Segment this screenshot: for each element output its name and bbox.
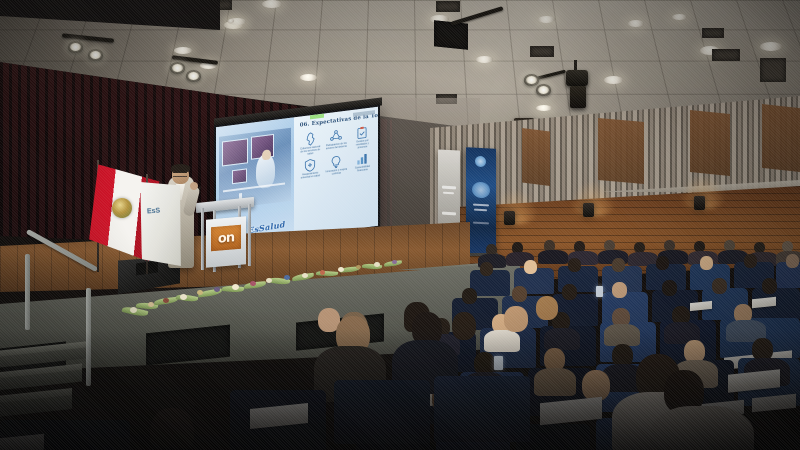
ceiling-vent — [436, 1, 460, 12]
slide-icon-grid: Cobertura nacional de los servicios de s… — [298, 123, 375, 181]
audience-head — [786, 254, 799, 268]
slide-icon-caption: Cobertura nacional de los servicios de s… — [299, 146, 322, 157]
slide-icon-cell: Innovacion y mejora continua — [324, 153, 349, 178]
wood-wall-panel — [690, 110, 730, 176]
audience-seat-foreground — [434, 376, 530, 442]
audience-head — [612, 282, 627, 298]
ceiling-downlight — [300, 74, 317, 81]
audience-head — [504, 306, 528, 332]
ceiling-downlight — [228, 19, 234, 23]
ceiling-downlight — [262, 0, 282, 8]
audience-head — [744, 254, 757, 268]
banner-text-block — [473, 222, 489, 225]
audience-shoulders-foreground — [650, 406, 754, 450]
ceiling-downlight — [536, 105, 552, 111]
audience-area — [0, 240, 800, 450]
banner-text-block — [443, 192, 454, 195]
spotlight-lens — [70, 43, 81, 51]
audience-head — [712, 278, 727, 294]
banner-logo — [472, 182, 490, 199]
slide-monitor — [222, 139, 248, 166]
audience-shoulders — [538, 250, 568, 264]
audience-shoulders — [604, 324, 640, 346]
ceiling-downlight — [628, 20, 644, 27]
slide-icon-cell: Sostenibilidad financiera — [350, 149, 375, 174]
spotlight-lens — [90, 51, 101, 59]
ceiling-downlight — [760, 42, 782, 51]
audience-head — [612, 258, 625, 272]
stage-spotlight — [88, 49, 103, 61]
banner-text-block — [442, 186, 456, 190]
stage-spotlight — [68, 41, 83, 53]
audience-head — [662, 280, 677, 296]
audience-phone — [596, 286, 603, 297]
audience-head — [762, 278, 777, 294]
audience-head — [480, 262, 493, 276]
audience-head — [536, 296, 558, 320]
spotlight-lens — [188, 72, 199, 80]
ceiling-vent — [712, 49, 740, 61]
slide-icon-cell: Aseguramiento universal en salud — [298, 156, 323, 181]
ceiling-vent — [760, 58, 786, 82]
slide-desk-edge — [223, 183, 285, 193]
peru-coat-of-arms — [112, 198, 132, 218]
ceiling-downlight — [476, 56, 493, 63]
slide-icon-caption: Sostenibilidad financiera — [351, 166, 374, 174]
slide-photo-image — [219, 127, 291, 210]
banner-text-block — [442, 212, 456, 216]
ceiling-downlight — [672, 14, 687, 20]
auditorium-photo: Aula EsSalud 06. Expectativas de la Tota… — [0, 0, 800, 450]
slide-icon-caption: Aseguramiento universal en salud — [299, 172, 322, 180]
audience-shoulders — [484, 330, 520, 352]
audience-head — [462, 288, 477, 304]
banner-text-block — [473, 204, 489, 207]
audience-phone — [494, 356, 503, 370]
slide-icon-cell: Cobertura nacional de los servicios de s… — [298, 130, 323, 157]
audience-head-foreground — [150, 408, 194, 450]
ceiling-downlight — [174, 47, 192, 54]
stage-spotlight — [536, 84, 551, 96]
wood-wall-panel — [522, 128, 550, 186]
ceiling-downlight — [604, 76, 623, 84]
audience-shoulders — [544, 328, 580, 350]
speaker-glasses — [173, 172, 187, 177]
wall-sconce — [583, 203, 594, 217]
flag-institutional-label: EsS — [147, 208, 161, 216]
ceiling-speaker — [570, 86, 586, 108]
sconce-glow — [492, 190, 538, 224]
banner-text-block — [474, 209, 487, 212]
slide-content-panel: 06. Expectativas de la Totalidad Cobertu… — [294, 107, 378, 237]
audience-head — [524, 260, 537, 274]
ceiling-vent — [702, 28, 724, 38]
slide-icon-cell: Gestion por resultados y procesos — [350, 123, 375, 150]
audience-seat-foreground — [334, 380, 430, 444]
slide-monitor — [232, 168, 247, 184]
speaker-hand — [190, 182, 198, 190]
wall-sconce — [504, 211, 515, 225]
audience-head — [452, 312, 476, 340]
slide-icon-caption: Participacion de los actores del sistema — [325, 143, 348, 151]
slide-person-head — [262, 149, 271, 160]
audience-head — [562, 284, 577, 300]
audience-head — [568, 258, 581, 272]
audience-head — [700, 256, 713, 270]
spotlight-lens — [172, 64, 183, 72]
banner-logo — [475, 156, 486, 168]
audience-shoulders — [534, 368, 576, 396]
slide-icon-caption: Gestion por resultados y procesos — [351, 139, 374, 150]
stage-spotlight — [170, 62, 185, 74]
ceiling-vent — [530, 46, 554, 57]
stage-spotlight — [524, 74, 539, 86]
wood-wall-panel — [762, 104, 800, 172]
banner-blue — [466, 147, 496, 255]
ceiling-downlight — [538, 16, 555, 23]
spotlight-lens — [526, 76, 537, 84]
speaker-hair — [171, 164, 190, 172]
wall-sconce — [694, 196, 705, 210]
wood-wall-panel — [598, 118, 644, 184]
spotlight-lens — [538, 86, 549, 94]
slide-icon-cell: Participacion de los actores del sistema — [324, 126, 349, 153]
ceiling-projector — [566, 70, 588, 86]
stage-spotlight — [186, 70, 201, 82]
audience-head — [512, 286, 527, 302]
slide-icon-caption: Innovacion y mejora continua — [325, 169, 348, 177]
audience-head — [656, 256, 669, 270]
